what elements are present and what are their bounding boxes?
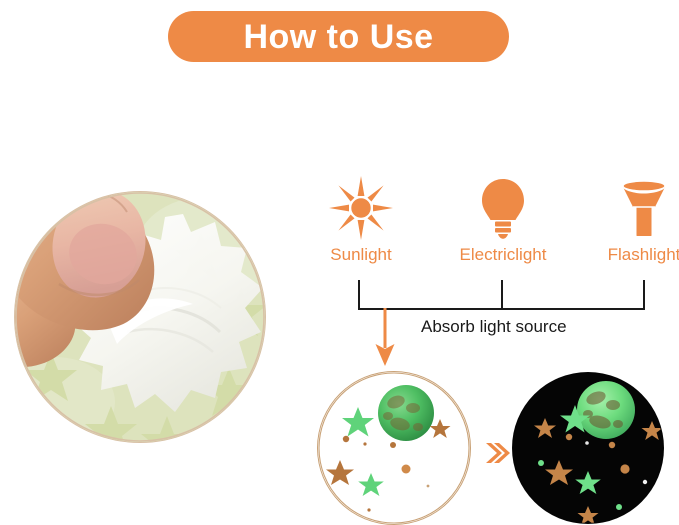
glow-in-dark-result-circle [512,372,664,524]
daylight-result-circle [318,372,470,524]
double-chevron-right-icon [484,440,510,466]
bracket-horizontal-line [358,308,645,310]
light-source-label-electriclight: Electriclight [443,246,563,265]
light-source-sunlight: Sunlight [301,176,421,265]
sun-icon [301,176,421,240]
bracket-stem-sunlight [358,280,360,309]
how-to-use-infographic: How to Use [0,0,679,525]
bracket-stem-flashlight [643,280,645,309]
light-source-flashlight: Flashlight [584,176,679,265]
light-source-electriclight: Electriclight [443,176,563,265]
sticker-peel-photo [15,192,265,442]
page-title: How to Use [243,20,433,54]
page-title-banner: How to Use [168,11,509,62]
absorb-light-source-label: Absorb light source [421,317,567,337]
light-source-label-sunlight: Sunlight [301,246,421,265]
down-arrow-icon [372,308,398,368]
bracket-stem-electriclight [501,280,503,309]
flashlight-icon [584,176,679,240]
lightbulb-icon [443,176,563,240]
light-source-label-flashlight: Flashlight [584,246,679,265]
